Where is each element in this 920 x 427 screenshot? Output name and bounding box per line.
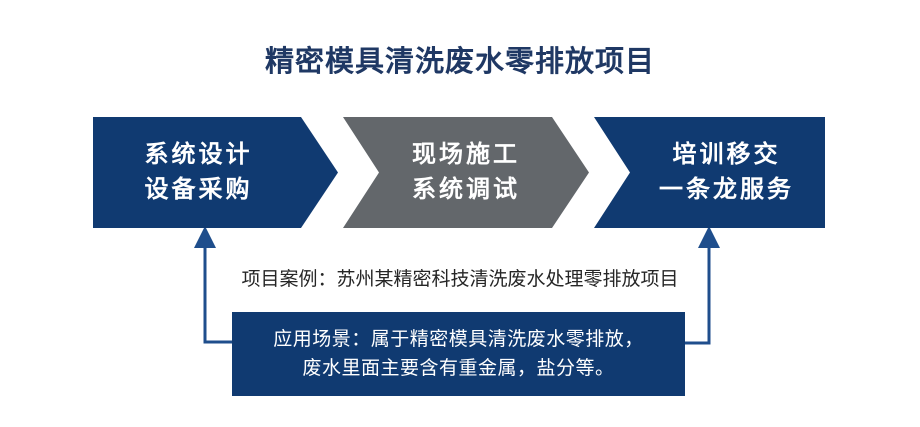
case-example-caption: 项目案例：苏州某精密科技清洗废水处理零排放项目 (225, 264, 695, 291)
slide-canvas: 精密模具清洗废水零排放项目 系统设计 设备采购 现场施工 系统调试 培训移交 一… (0, 0, 920, 427)
page-title: 精密模具清洗废水零排放项目 (0, 38, 920, 80)
process-flow: 系统设计 设备采购 现场施工 系统调试 培训移交 一条龙服务 (0, 117, 920, 228)
process-step-construction-commissioning[interactable]: 现场施工 系统调试 (343, 117, 589, 228)
callout-line-2: 废水里面主要含有重金属，盐分等。 (302, 354, 614, 383)
callout-line-1: 应用场景：属于精密模具清洗废水零排放， (273, 325, 644, 354)
process-step-3-line-2: 一条龙服务 (659, 173, 794, 207)
process-step-1-line-1: 系统设计 (145, 138, 253, 172)
process-step-1-line-2: 设备采购 (145, 173, 253, 207)
process-step-2-line-1: 现场施工 (412, 138, 520, 172)
process-step-training-handover[interactable]: 培训移交 一条龙服务 (594, 117, 825, 228)
process-step-3-line-1: 培训移交 (673, 138, 781, 172)
process-step-2-line-2: 系统调试 (412, 173, 520, 207)
application-scenario-callout: 应用场景：属于精密模具清洗废水零排放， 废水里面主要含有重金属，盐分等。 (232, 312, 685, 396)
process-step-design-procurement[interactable]: 系统设计 设备采购 (93, 117, 338, 228)
